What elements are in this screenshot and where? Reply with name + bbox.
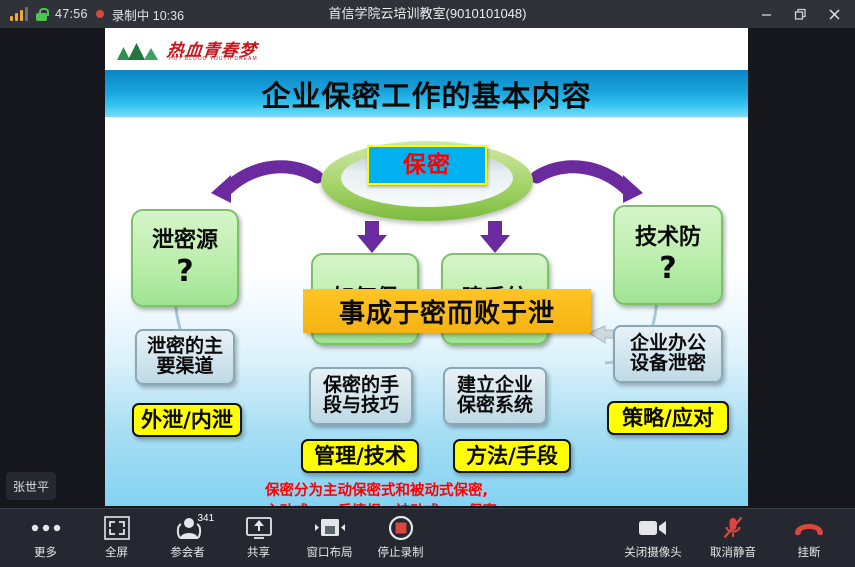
title-bar: 47:56 录制中 10:36 首信学院云培训教室(9010101048)	[0, 0, 855, 28]
toolbar-camera-button[interactable]: 关闭摄像头	[613, 509, 693, 567]
more-dots-icon	[31, 516, 61, 540]
restore-button[interactable]	[783, 0, 817, 28]
meeting-window: 47:56 录制中 10:36 首信学院云培训教室(9010101048)	[0, 0, 855, 566]
box-office-equipment-leak-text: 企业办公 设备泄密	[630, 334, 706, 374]
hangup-icon	[793, 516, 825, 540]
box-leak-channels-text: 泄密的主 要渠道	[147, 337, 223, 377]
box-office-equipment-leak: 企业办公 设备泄密	[613, 325, 723, 383]
highlight-banner: 事成于密而败于泄	[303, 289, 591, 333]
box-management-technology: 管理/技术	[301, 439, 419, 473]
window-layout-icon	[314, 516, 346, 540]
toolbar-hangup-label: 挂断	[798, 544, 821, 560]
participant-name-chip: 张世平	[6, 472, 56, 500]
box-tech-protection-mark: ?	[659, 254, 676, 284]
restore-icon	[794, 8, 807, 21]
box-strategy-response: 策略/应对	[607, 401, 729, 435]
camera-icon	[638, 516, 668, 540]
share-screen-icon	[245, 516, 273, 540]
window-controls	[749, 0, 851, 28]
box-management-technology-text: 管理/技术	[314, 445, 406, 467]
stop-record-icon	[389, 516, 413, 540]
shared-content-stage: 热血青春梦 HOT BLOOD YOUTH DREAM 企业保密工作的基本内容	[0, 28, 855, 508]
close-button[interactable]	[817, 0, 851, 28]
toolbar-layout-button[interactable]: 窗口布局	[294, 509, 365, 567]
toolbar-more-label: 更多	[34, 544, 57, 560]
box-tech-protection: 技术防 ?	[613, 205, 723, 305]
lock-icon	[36, 8, 47, 21]
slide-footnote: 保密分为主动保密式和被动式保密, 主动式——反情报；被动式——保密	[265, 481, 605, 506]
close-icon	[828, 8, 841, 21]
signal-bars-icon	[10, 7, 28, 21]
box-strategy-response-text: 策略/应对	[622, 407, 714, 429]
session-timer: 47:56	[55, 7, 88, 21]
highlight-banner-text: 事成于密而败于泄	[339, 293, 555, 330]
toolbar-hangup-button[interactable]: 挂断	[773, 509, 845, 567]
box-method-means: 方法/手段	[453, 439, 571, 473]
participant-name-text: 张世平	[13, 478, 49, 495]
box-tech-protection-title: 技术防	[635, 226, 701, 249]
slide-footnote-line1: 保密分为主动保密式和被动式保密,	[265, 481, 605, 502]
recording-status: 录制中 10:36	[112, 5, 184, 24]
center-secrecy-label: 保密	[367, 145, 487, 185]
box-build-enterprise-system: 建立企业 保密系统	[443, 367, 547, 425]
toolbar-mic-button[interactable]: 取消静音	[693, 509, 773, 567]
box-external-internal-leak-text: 外泄/内泄	[141, 409, 233, 431]
box-leak-source-mark: ?	[176, 257, 193, 287]
toolbar-stop-record-button[interactable]: 停止录制	[365, 509, 436, 567]
toolbar-left-group: 更多 全屏	[10, 509, 436, 567]
mic-muted-icon	[721, 516, 745, 540]
toolbar-share-button[interactable]: 共享	[223, 509, 294, 567]
arrow-down-right-purple	[480, 221, 510, 253]
presentation-slide: 热血青春梦 HOT BLOOD YOUTH DREAM 企业保密工作的基本内容	[105, 28, 748, 506]
toolbar-share-label: 共享	[247, 544, 270, 560]
toolbar-participants-button[interactable]: 341 参会者	[152, 509, 223, 567]
arrow-down-left-purple	[357, 221, 387, 253]
slide-canvas: 保密 泄密源 ? 技术防 ? 如何保 建系统	[105, 117, 748, 506]
toolbar-mic-label: 取消静音	[710, 544, 756, 560]
toolbar-right-group: 关闭摄像头 取消静音	[613, 509, 845, 567]
title-bar-status-group: 47:56 录制中 10:36	[10, 0, 184, 28]
box-method-means-text: 方法/手段	[466, 445, 558, 467]
brand-logo: 热血青春梦 HOT BLOOD YOUTH DREAM	[117, 36, 297, 64]
box-leak-source-title: 泄密源	[152, 229, 218, 252]
center-secrecy-text: 保密	[403, 153, 451, 177]
slide-footnote-line2: 主动式——反情报；被动式——保密	[265, 502, 605, 506]
slide-title-text: 企业保密工作的基本内容	[261, 73, 591, 115]
box-secrecy-methods-text: 保密的手 段与技巧	[323, 376, 399, 416]
box-secrecy-methods: 保密的手 段与技巧	[309, 367, 413, 425]
toolbar-stop-record-label: 停止录制	[378, 544, 424, 560]
box-external-internal-leak: 外泄/内泄	[132, 403, 242, 437]
box-leak-source: 泄密源 ?	[131, 209, 239, 307]
slide-logo-bar: 热血青春梦 HOT BLOOD YOUTH DREAM	[105, 28, 748, 70]
toolbar-participants-label: 参会者	[170, 544, 205, 560]
toolbar-fullscreen-button[interactable]: 全屏	[81, 509, 152, 567]
box-build-enterprise-system-text: 建立企业 保密系统	[457, 376, 533, 416]
record-dot-icon	[96, 10, 104, 18]
meeting-toolbar: 更多 全屏	[0, 508, 855, 567]
arrow-right-purple	[537, 167, 643, 203]
slide-title-band: 企业保密工作的基本内容	[105, 70, 748, 117]
participants-count-badge: 341	[198, 513, 215, 524]
toolbar-fullscreen-label: 全屏	[105, 544, 128, 560]
logo-tagline: HOT BLOOD YOUTH DREAM	[169, 56, 258, 62]
minimize-icon	[760, 8, 773, 21]
fullscreen-icon	[104, 516, 130, 540]
toolbar-camera-label: 关闭摄像头	[624, 544, 682, 560]
minimize-button[interactable]	[749, 0, 783, 28]
participants-icon: 341	[172, 516, 204, 540]
mountain-logo-icon	[117, 43, 163, 60]
toolbar-layout-label: 窗口布局	[307, 544, 353, 560]
arrow-left-purple	[211, 167, 317, 203]
box-leak-channels: 泄密的主 要渠道	[135, 329, 235, 385]
toolbar-more-button[interactable]: 更多	[10, 509, 81, 567]
